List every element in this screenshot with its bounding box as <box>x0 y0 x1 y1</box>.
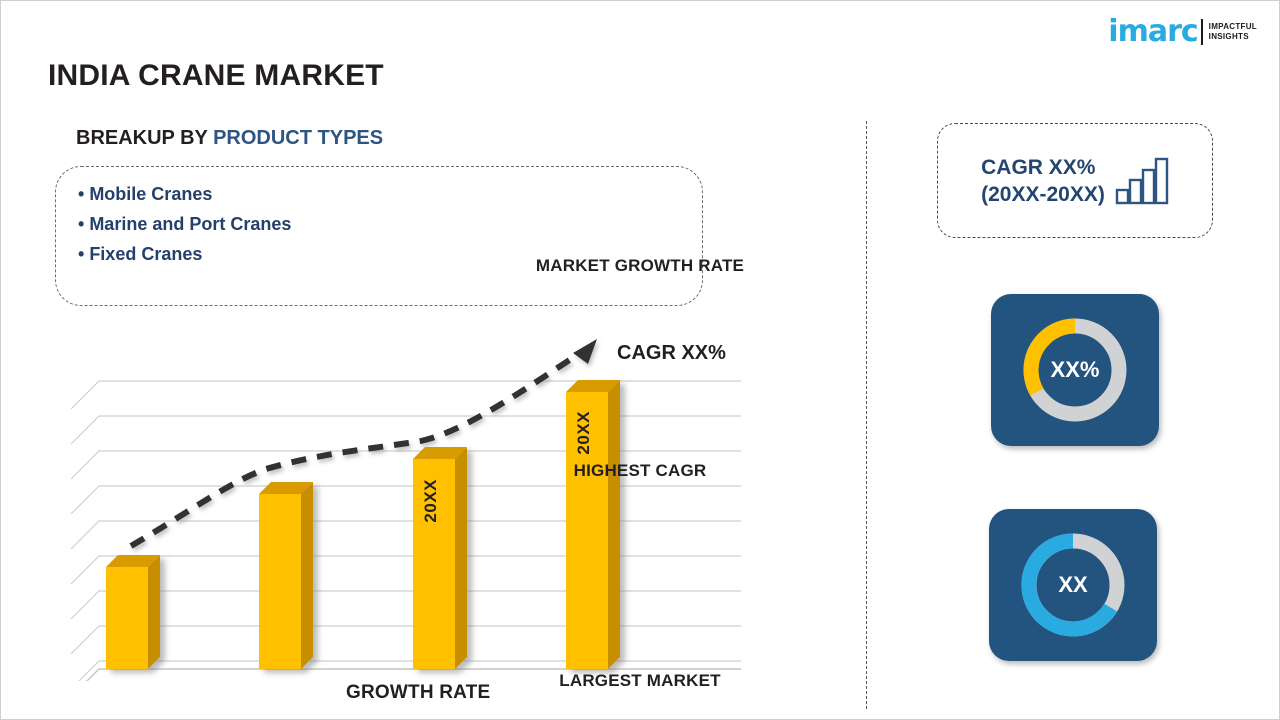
highest-cagr-value: XX% <box>991 357 1159 383</box>
growth-bar-chart: 20XX 20XX <box>61 331 741 681</box>
largest-market-value: XX <box>989 572 1157 598</box>
breakup-heading-prefix: BREAKUP BY <box>76 127 213 149</box>
growth-rate-line2: (20XX-20XX) <box>981 181 1105 208</box>
ascending-bars-icon <box>1115 157 1169 205</box>
breakup-heading-accent: PRODUCT TYPES <box>213 127 383 149</box>
highest-cagr-card: XX% <box>991 294 1159 446</box>
product-types-box: •Mobile Cranes •Marine and Port Cranes •… <box>55 166 703 306</box>
growth-rate-text: CAGR XX% (20XX-20XX) <box>981 154 1105 208</box>
panel-divider <box>866 121 867 709</box>
page-title: INDIA CRANE MARKET <box>48 59 384 93</box>
bar-2 <box>259 482 313 669</box>
chart-cagr-annotation: CAGR XX% <box>617 342 726 365</box>
logo-tagline-line2: INSIGHTS <box>1209 32 1257 42</box>
market-growth-rate-caption: MARKET GROWTH RATE <box>1 256 1279 276</box>
imarc-logo: imarc IMPACTFUL INSIGHTS <box>1108 15 1257 49</box>
list-item-label: Marine and Port Cranes <box>89 214 291 234</box>
highest-cagr-caption: HIGHEST CAGR <box>1 461 1279 481</box>
chart-gridlines <box>71 381 741 681</box>
bar-4-label: 20XX <box>574 411 594 455</box>
logo-wordmark: imarc <box>1108 17 1197 47</box>
logo-tagline-line1: IMPACTFUL <box>1209 22 1257 32</box>
chart-canvas <box>61 331 741 681</box>
growth-rate-line1: CAGR XX% <box>981 154 1105 181</box>
largest-market-card: XX <box>989 509 1157 661</box>
market-growth-rate-box: CAGR XX% (20XX-20XX) <box>937 123 1213 238</box>
infographic-page: imarc IMPACTFUL INSIGHTS INDIA CRANE MAR… <box>0 0 1280 720</box>
logo-divider <box>1201 19 1203 45</box>
list-item: •Marine and Port Cranes <box>78 209 702 239</box>
logo-tagline: IMPACTFUL INSIGHTS <box>1209 22 1257 42</box>
bar-3-label: 20XX <box>421 479 441 523</box>
list-item: •Mobile Cranes <box>78 179 702 209</box>
bar-1 <box>106 555 160 669</box>
bullet-icon: • <box>78 184 84 204</box>
trendline-arrowhead <box>573 339 597 364</box>
breakup-heading: BREAKUP BY PRODUCT TYPES <box>76 127 383 150</box>
largest-market-caption: LARGEST MARKET <box>1 671 1279 691</box>
bullet-icon: • <box>78 214 84 234</box>
trendline <box>131 339 597 546</box>
list-item-label: Mobile Cranes <box>89 184 212 204</box>
